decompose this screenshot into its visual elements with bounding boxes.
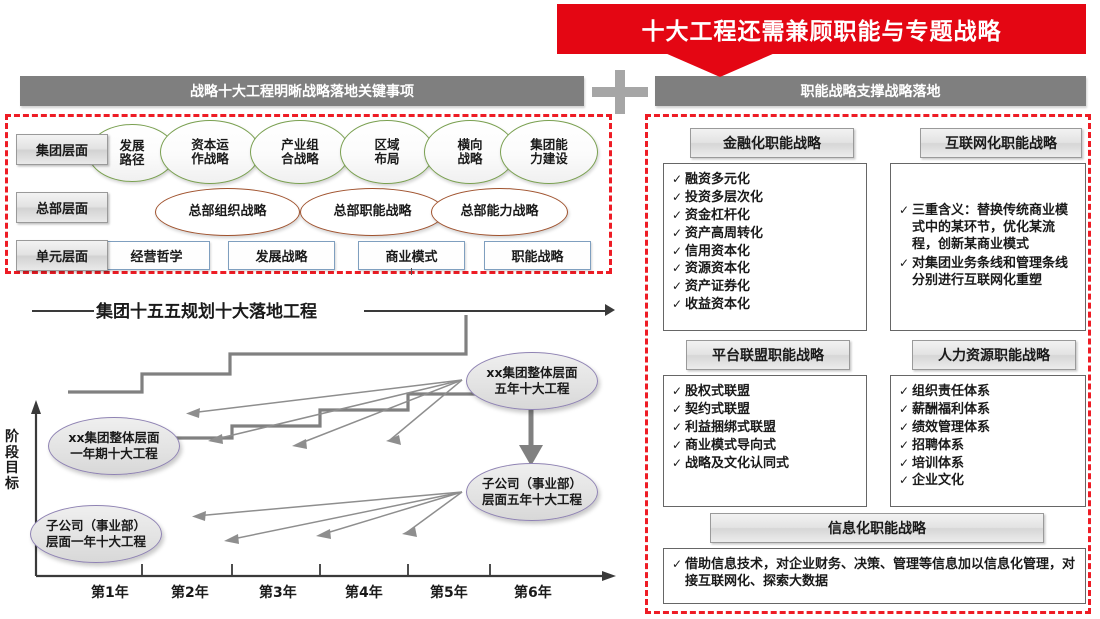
layer-label-unit: 单元层面: [16, 240, 108, 271]
panel-title-informatization-text: 信息化职能战略: [828, 518, 926, 538]
panel-bullet-text: 资金杠杆化: [685, 208, 860, 225]
panel-bullet-item: ✓资产高周转化: [672, 226, 860, 243]
group-strategy-ellipse: 资本运作战略: [160, 120, 260, 184]
panel-bullet-item: ✓企业文化: [899, 473, 1079, 490]
banner-arrow-tail: [665, 53, 775, 77]
check-icon: ✓: [672, 244, 685, 260]
chart-annotation-group-1y: xx集团整体层面一年期十大工程: [48, 417, 180, 475]
panel-bullet-item: ✓战略及文化认同式: [672, 456, 860, 473]
header-bar-left: 战略十大工程明晰战略落地关键事项: [20, 76, 584, 106]
panel-bullet-text: 融资多元化: [685, 172, 860, 189]
chart-annotation-sub-5y-text: 子公司（事业部）层面五年十大工程: [482, 476, 582, 507]
panel-title-informatization: 信息化职能战略: [710, 513, 1044, 543]
x-tick-label: 第4年: [345, 582, 383, 602]
check-icon: ✓: [672, 261, 685, 277]
unit-strategy-label: 职能战略: [511, 246, 563, 265]
panel-title-hr: 人力资源职能战略: [912, 340, 1076, 370]
chart-annotation-group-1y-text: xx集团整体层面一年期十大工程: [68, 430, 159, 461]
group-strategy-label: 资本运作战略: [191, 138, 229, 166]
panel-title-platform-alliance-text: 平台联盟职能战略: [712, 345, 824, 365]
panel-body-internet: ✓三重含义：替换传统商业模式中的某环节，优化某流程，创新某商业模式✓对集团业务条…: [890, 163, 1086, 331]
check-icon: ✓: [899, 473, 912, 489]
check-icon: ✓: [672, 402, 685, 418]
panel-bullet-item: ✓对集团业务条线和管理条线分别进行互联网化重塑: [899, 256, 1079, 290]
red-banner: 十大工程还需兼顾职能与专题战略: [557, 4, 1086, 54]
x-tick-label: 第3年: [259, 582, 297, 602]
panel-title-hr-text: 人力资源职能战略: [938, 345, 1050, 365]
group-strategy-ellipse: 产业组合战略: [250, 120, 350, 184]
unit-strategy-label: 发展战略: [255, 246, 307, 265]
hq-strategy-ellipse: 总部组织战略: [155, 188, 300, 236]
unit-strategy-box: 职能战略: [484, 241, 591, 270]
panel-bullet-text: 招聘体系: [912, 438, 1079, 455]
panel-bullet-item: ✓投资多层次化: [672, 190, 860, 207]
check-icon: ✓: [672, 438, 685, 454]
panel-bullet-item: ✓信用资本化: [672, 244, 860, 261]
panel-bullet-text: 绩效管理体系: [912, 420, 1079, 437]
layer-label-hq-text: 总部层面: [36, 198, 88, 217]
panel-bullet-item: ✓培训体系: [899, 456, 1079, 473]
group-strategy-label: 产业组合战略: [281, 138, 319, 166]
panel-body-platform-alliance: ✓股权式联盟✓契约式联盟✓利益捆绑式联盟✓商业模式导向式✓战略及文化认同式: [663, 375, 867, 507]
panel-bullet-text: 组织责任体系: [912, 384, 1079, 401]
check-icon: ✓: [672, 297, 685, 313]
chart-annotation-sub-5y: 子公司（事业部）层面五年十大工程: [466, 463, 598, 521]
unit-strategy-box: 经营哲学: [103, 241, 210, 270]
panel-bullet-text: 投资多层次化: [685, 190, 860, 207]
panel-bullet-item: ✓资源资本化: [672, 261, 860, 278]
check-icon: ✓: [672, 172, 685, 188]
hq-strategy-ellipse: 总部职能战略: [300, 188, 445, 236]
panel-bullet-text: 战略及文化认同式: [685, 456, 860, 473]
layer-label-group-text: 集团层面: [36, 140, 88, 159]
unit-strategy-label: 商业模式: [385, 246, 437, 265]
panel-bullet-item: ✓商业模式导向式: [672, 438, 860, 455]
panel-bullet-item: ✓三重含义：替换传统商业模式中的某环节，优化某流程，创新某商业模式: [899, 203, 1079, 254]
hq-strategy-label: 总部组织战略: [188, 205, 266, 220]
header-bar-right: 职能战略支撑战略落地: [655, 76, 1086, 106]
check-icon: ✓: [899, 256, 912, 272]
panel-bullet-item: ✓契约式联盟: [672, 402, 860, 419]
panel-bullet-item: ✓招聘体系: [899, 438, 1079, 455]
panel-bullet-text: 资产高周转化: [685, 226, 860, 243]
plus-icon: [592, 76, 648, 106]
x-tick-label: 第6年: [514, 582, 552, 602]
check-icon: ✓: [672, 384, 685, 400]
panel-bullet-item: ✓股权式联盟: [672, 384, 860, 401]
header-left-label: 战略十大工程明晰战略落地关键事项: [190, 81, 414, 101]
panel-body-hr: ✓组织责任体系✓薪酬福利体系✓绩效管理体系✓招聘体系✓培训体系✓企业文化: [890, 375, 1086, 507]
unit-strategy-box: 发展战略: [228, 241, 335, 270]
check-icon: ✓: [899, 420, 912, 436]
panel-title-internet-text: 互联网化职能战略: [945, 133, 1057, 153]
header-right-label: 职能战略支撑战略落地: [801, 81, 941, 101]
check-icon: ✓: [899, 438, 912, 454]
panel-bullet-text: 借助信息技术，对企业财务、决策、管理等信息加以信息化管理，对接互联网化、探索大数…: [685, 557, 1079, 591]
panel-bullet-text: 商业模式导向式: [685, 438, 860, 455]
check-icon: ✓: [899, 384, 912, 400]
panel-bullet-text: 企业文化: [912, 473, 1079, 490]
hq-strategy-label: 总部职能战略: [333, 205, 411, 220]
y-axis-label: 阶段目标: [4, 430, 20, 493]
panel-bullet-text: 利益捆绑式联盟: [685, 420, 860, 437]
group-strategy-ellipse: 集团能力建设: [500, 120, 598, 184]
panel-bullet-text: 股权式联盟: [685, 384, 860, 401]
layer-label-hq: 总部层面: [16, 192, 108, 223]
panel-bullet-text: 培训体系: [912, 456, 1079, 473]
check-icon: ✓: [672, 279, 685, 295]
check-icon: ✓: [899, 456, 912, 472]
group-strategy-label: 横向战略: [457, 138, 482, 166]
panel-body-informatization: ✓借助信息技术，对企业财务、决策、管理等信息加以信息化管理，对接互联网化、探索大…: [663, 548, 1086, 604]
x-tick-label: 第1年: [91, 582, 129, 602]
check-icon: ✓: [672, 420, 685, 436]
panel-bullet-text: 薪酬福利体系: [912, 402, 1079, 419]
x-tick-label: 第2年: [171, 582, 209, 602]
layer-label-unit-text: 单元层面: [36, 246, 88, 265]
panel-bullet-item: ✓融资多元化: [672, 172, 860, 189]
check-icon: ✓: [672, 226, 685, 242]
panel-bullet-text: 收益资本化: [685, 297, 860, 314]
panel-title-finance-text: 金融化职能战略: [723, 133, 821, 153]
panel-bullet-text: 资产证券化: [685, 279, 860, 296]
x-tick-label: 第5年: [430, 582, 468, 602]
panel-bullet-item: ✓资金杠杆化: [672, 208, 860, 225]
group-strategy-label: 区域布局: [374, 138, 399, 166]
chart-annotation-sub-1y-text: 子公司（事业部）层面一年十大工程: [46, 518, 146, 549]
group-strategy-label: 发展路径: [119, 139, 144, 167]
panel-bullet-item: ✓薪酬福利体系: [899, 402, 1079, 419]
panel-title-internet: 互联网化职能战略: [920, 128, 1082, 158]
layer-label-group: 集团层面: [16, 134, 108, 165]
panel-bullet-text: 契约式联盟: [685, 402, 860, 419]
panel-bullet-item: ✓资产证券化: [672, 279, 860, 296]
hq-strategy-ellipse: 总部能力战略: [431, 188, 568, 236]
panel-bullet-text: 对集团业务条线和管理条线分别进行互联网化重塑: [912, 256, 1079, 290]
group-strategy-ellipse: 区域布局: [340, 120, 434, 184]
panel-title-finance: 金融化职能战略: [690, 128, 854, 158]
check-icon: ✓: [672, 208, 685, 224]
panel-bullet-text: 三重含义：替换传统商业模式中的某环节，优化某流程，创新某商业模式: [912, 203, 1079, 254]
panel-bullet-item: ✓组织责任体系: [899, 384, 1079, 401]
panel-bullet-item: ✓借助信息技术，对企业财务、决策、管理等信息加以信息化管理，对接互联网化、探索大…: [672, 557, 1079, 591]
panel-bullet-item: ✓绩效管理体系: [899, 420, 1079, 437]
check-icon: ✓: [899, 203, 912, 219]
check-icon: ✓: [672, 456, 685, 472]
panel-body-finance: ✓融资多元化✓投资多层次化✓资金杠杆化✓资产高周转化✓信用资本化✓资源资本化✓资…: [663, 163, 867, 331]
check-icon: ✓: [672, 557, 685, 573]
panel-bullet-item: ✓收益资本化: [672, 297, 860, 314]
unit-strategy-label: 经营哲学: [130, 246, 182, 265]
group-strategy-label: 集团能力建设: [530, 138, 568, 166]
banner-title: 十大工程还需兼顾职能与专题战略: [642, 12, 1002, 46]
panel-title-platform-alliance: 平台联盟职能战略: [686, 340, 850, 370]
unit-connector-tick: [411, 268, 412, 275]
check-icon: ✓: [672, 190, 685, 206]
panel-bullet-text: 资源资本化: [685, 261, 860, 278]
panel-bullet-item: ✓利益捆绑式联盟: [672, 420, 860, 437]
hq-strategy-label: 总部能力战略: [460, 205, 538, 220]
panel-bullet-text: 信用资本化: [685, 244, 860, 261]
check-icon: ✓: [899, 402, 912, 418]
chart-annotation-group-5y: xx集团整体层面五年十大工程: [466, 352, 598, 410]
chart-annotation-sub-1y: 子公司（事业部）层面一年十大工程: [30, 505, 162, 563]
unit-strategy-box: 商业模式: [358, 241, 465, 270]
chart-annotation-group-5y-text: xx集团整体层面五年十大工程: [486, 365, 577, 396]
